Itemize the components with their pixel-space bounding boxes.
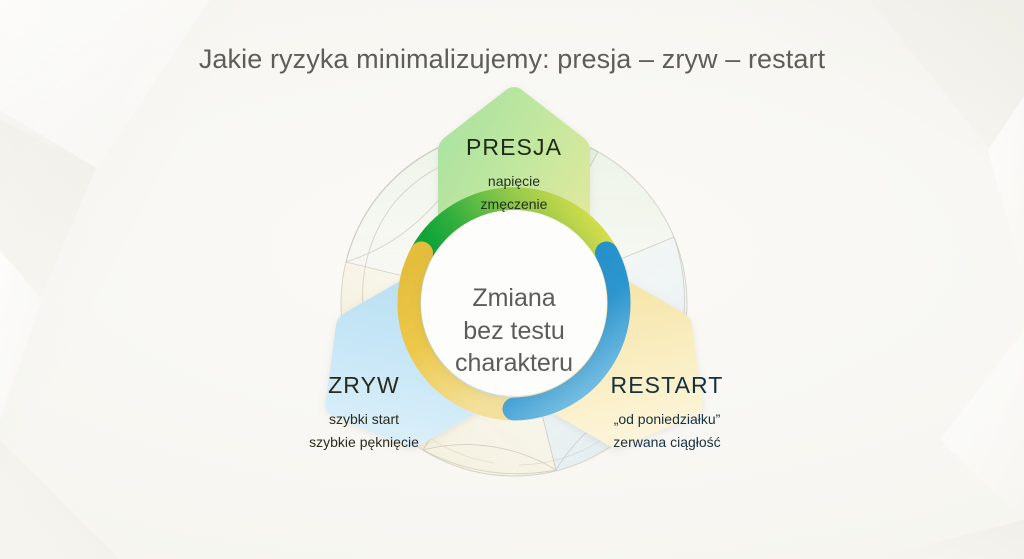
- trefoil-diagram: PRESJA napięcie zmęczenie ZRYW szybki st…: [0, 60, 1024, 559]
- center-hub-circle[interactable]: [421, 210, 607, 396]
- slide-canvas: Jakie ryzyka minimalizujemy: presja – zr…: [0, 0, 1024, 559]
- diagram-svg: [0, 60, 1024, 559]
- cycle-ring: [409, 199, 619, 409]
